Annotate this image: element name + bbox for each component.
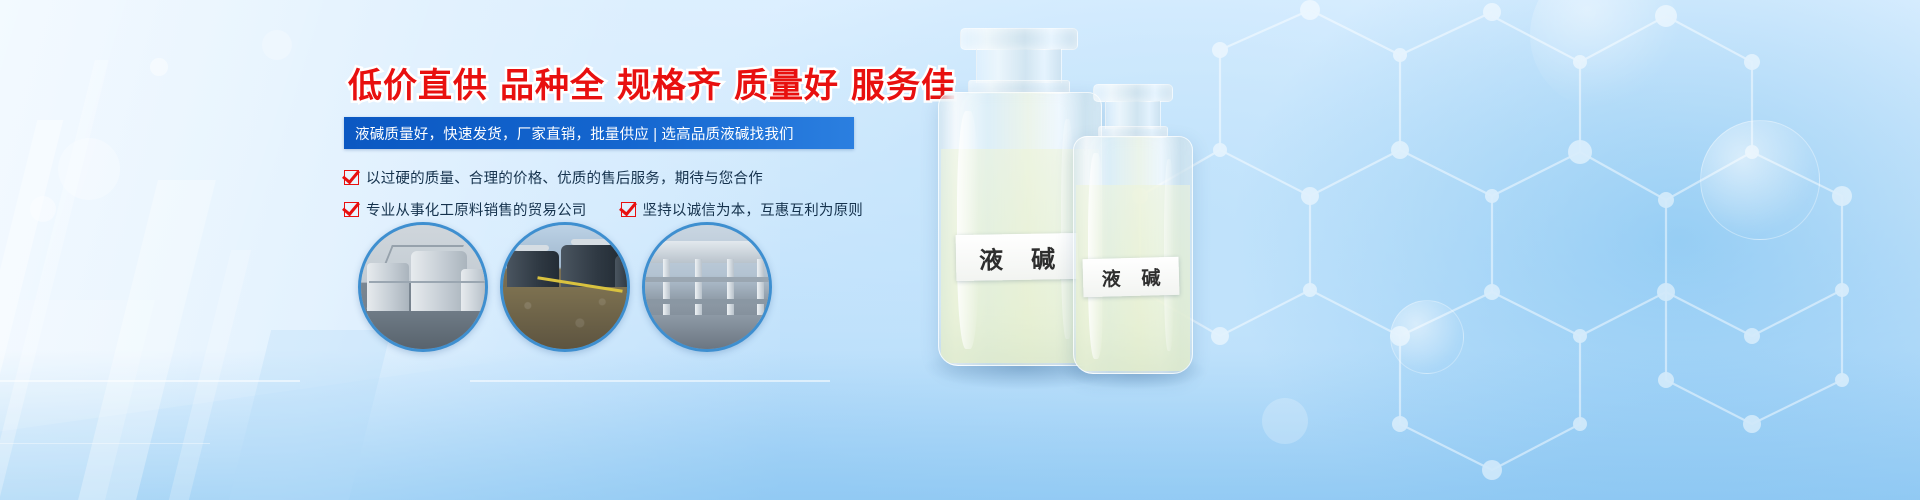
list-item: 坚持以诚信为本，互惠互利为原则: [621, 199, 864, 220]
bottle-label: 液 碱: [956, 233, 1079, 281]
product-bottle-small: 液 碱: [1067, 84, 1197, 374]
checkmark-icon: [621, 202, 636, 217]
headline-segment-4: 质量好: [734, 67, 839, 105]
bottle-label: 液 碱: [1083, 257, 1180, 298]
bottle-highlight: [1164, 159, 1174, 351]
product-banner: 低价直供品种全规格齐质量好服务佳 液碱质量好，快速发货，厂家直销，批量供应 | …: [0, 0, 1920, 500]
photo-thumbnail-chemical-tanks: [500, 222, 630, 352]
bullet-row: 专业从事化工原料销售的贸易公司 坚持以诚信为本，互惠互利为原则: [344, 199, 904, 220]
feature-bullet-list: 以过硬的质量、合理的价格、优质的售后服务，期待与您合作 专业从事化工原料销售的贸…: [344, 167, 904, 220]
page-title: 低价直供品种全规格齐质量好服务佳: [348, 66, 904, 106]
bottle-highlight: [957, 111, 979, 349]
photo-thumbnail-storage-tanks: [358, 222, 488, 352]
background-hairline: [0, 443, 210, 444]
bullet-text: 以过硬的质量、合理的价格、优质的售后服务，期待与您合作: [366, 167, 763, 188]
headline-segment-2: 品种全: [500, 67, 605, 105]
headline-segment-1: 低价直供: [348, 67, 488, 105]
bottle-neck: [1105, 101, 1161, 129]
product-bottles-group: 液 碱 液 碱: [915, 0, 1245, 500]
bottle-body: [1073, 136, 1193, 374]
bottle-neck: [976, 49, 1062, 83]
background-hairline: [470, 380, 830, 382]
list-item: 以过硬的质量、合理的价格、优质的售后服务，期待与您合作: [344, 167, 763, 188]
bottle-stopper: [1093, 84, 1173, 102]
bottle-stopper: [960, 28, 1078, 50]
bullet-row: 以过硬的质量、合理的价格、优质的售后服务，期待与您合作: [344, 167, 904, 188]
list-item: 专业从事化工原料销售的贸易公司: [344, 199, 587, 220]
photo-thumbnail-factory-pipes: [642, 222, 772, 352]
bullet-text: 专业从事化工原料销售的贸易公司: [366, 199, 587, 220]
subtitle-text: 液碱质量好，快速发货，厂家直销，批量供应 | 选高品质液碱找我们: [355, 123, 794, 144]
subtitle-bar: 液碱质量好，快速发货，厂家直销，批量供应 | 选高品质液碱找我们: [344, 117, 854, 149]
checkmark-icon: [344, 170, 359, 185]
checkmark-icon: [344, 202, 359, 217]
background-hairline: [0, 380, 300, 382]
bottle-highlight: [1088, 153, 1104, 359]
banner-text-block: 低价直供品种全规格齐质量好服务佳 液碱质量好，快速发货，厂家直销，批量供应 | …: [344, 66, 904, 231]
headline-segment-3: 规格齐: [617, 67, 722, 105]
photo-thumbnail-group: [358, 222, 772, 352]
bullet-text: 坚持以诚信为本，互惠互利为原则: [643, 199, 864, 220]
